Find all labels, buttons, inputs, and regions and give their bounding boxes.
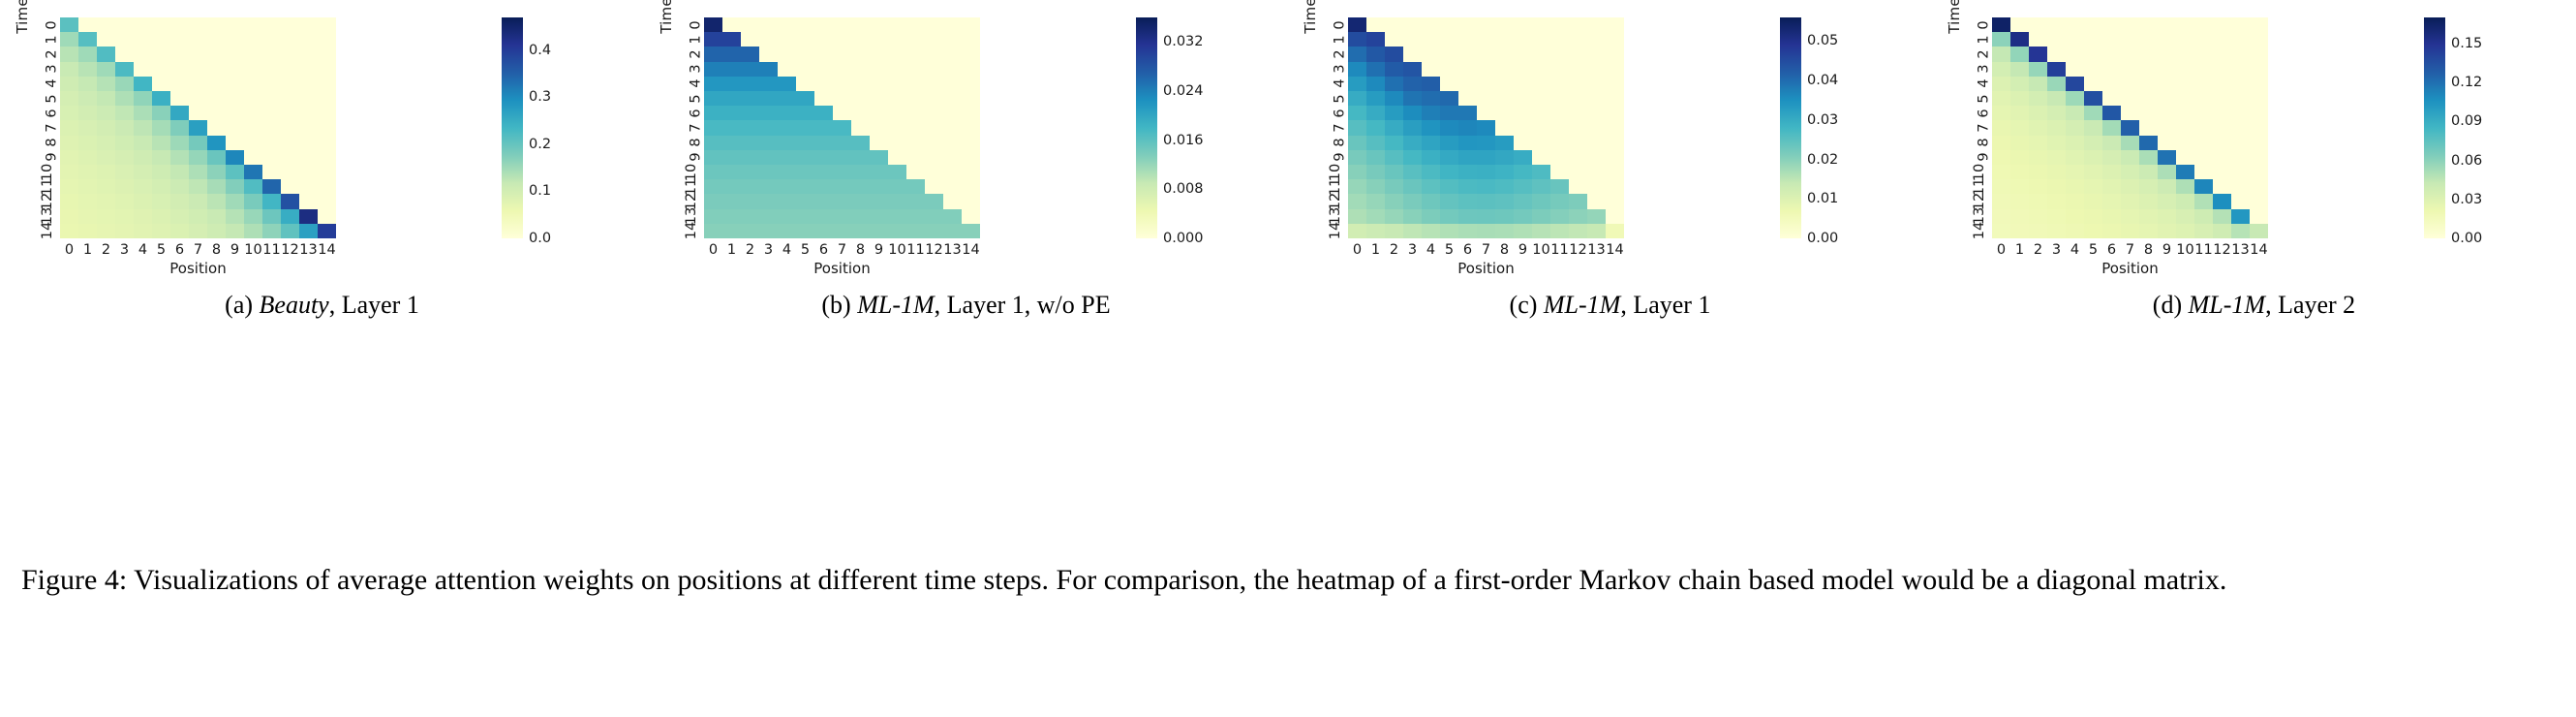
heatmap-cell (244, 209, 262, 224)
heatmap-cell (2121, 224, 2139, 238)
heatmap-cell (1992, 165, 2010, 179)
y-tick-label: 0 (44, 20, 59, 29)
heatmap-cell (851, 179, 870, 194)
heatmap-cell (262, 136, 281, 150)
heatmap-cell (2139, 179, 2158, 194)
heatmap-cell (1550, 209, 1569, 224)
heatmap-cell (1569, 47, 1587, 61)
heatmap-cell (1550, 165, 1569, 179)
heatmap-cell (1477, 77, 1495, 91)
heatmap-cell (2047, 91, 2066, 106)
heatmap-cell (115, 194, 134, 208)
heatmap-cell (741, 165, 759, 179)
heatmap-cell (1550, 194, 1569, 208)
heatmap-cell (189, 106, 207, 120)
heatmap-cell (2213, 120, 2231, 135)
heatmap-cell (1348, 224, 1366, 238)
heatmap-cell (796, 150, 814, 165)
heatmap-cell (833, 77, 851, 91)
colorbar-tick-label: 0.3 (529, 89, 551, 105)
heatmap-cell (2158, 179, 2176, 194)
heatmap-cell (1385, 224, 1403, 238)
heatmap-cell (759, 165, 778, 179)
heatmap-cell (189, 47, 207, 61)
heatmap-cell (814, 136, 833, 150)
heatmap-cell (281, 120, 299, 135)
heatmap-cell (741, 47, 759, 61)
heatmap-cell (318, 136, 336, 150)
heatmap-cell (115, 17, 134, 32)
heatmap-cell (2066, 106, 2084, 120)
colorbar-tick-label: 0.03 (2451, 192, 2482, 207)
heatmap-cell (2010, 62, 2029, 77)
x-tick-label: 9 (870, 242, 888, 262)
x-tick-label: 12 (281, 242, 299, 262)
heatmap-cell (134, 179, 152, 194)
y-tick-label: 5 (1332, 94, 1347, 103)
y-tick-label: 1 (44, 35, 59, 44)
figure-4-container: Time Step0123456789101112131401234567891… (0, 0, 2576, 717)
heatmap-cell (1458, 32, 1477, 47)
heatmap-cell (1514, 91, 1532, 106)
heatmap-cell (778, 47, 796, 61)
heatmap-cell (1458, 120, 1477, 135)
heatmap-cell (741, 179, 759, 194)
heatmap-cell (870, 47, 888, 61)
heatmap-panel-b: Time Step0123456789101112131401234567891… (644, 0, 1288, 484)
heatmap-cell (134, 91, 152, 106)
heatmap-cell (60, 224, 78, 238)
heatmap-cell (759, 77, 778, 91)
heatmap-cell (1514, 209, 1532, 224)
heatmap-cell (244, 62, 262, 77)
heatmap-cell (2158, 150, 2176, 165)
heatmap-cell (226, 209, 244, 224)
heatmap-cell (189, 179, 207, 194)
heatmap-cell (226, 120, 244, 135)
heatmap-cell (152, 136, 170, 150)
heatmap-cell (2029, 136, 2047, 150)
heatmap-cell (2066, 150, 2084, 165)
x-tick-label: 3 (1403, 242, 1422, 262)
heatmap-cell (78, 224, 97, 238)
heatmap-cell (2231, 150, 2250, 165)
x-tick-label: 5 (796, 242, 814, 262)
heatmap-cell (1514, 224, 1532, 238)
heatmap-cell (2194, 47, 2213, 61)
heatmap-cell (262, 194, 281, 208)
heatmap-cell (134, 17, 152, 32)
heatmap-cell (2250, 32, 2268, 47)
x-tick-label: 4 (2066, 242, 2084, 262)
heatmap-cell (1477, 209, 1495, 224)
heatmap-cell (1550, 150, 1569, 165)
heatmap-cell (281, 165, 299, 179)
heatmap-cell (704, 150, 722, 165)
heatmap-cell (2194, 165, 2213, 179)
heatmap-cell (888, 179, 906, 194)
heatmap-cell (1440, 77, 1458, 91)
heatmap-cell (722, 47, 741, 61)
heatmap-cell (1495, 47, 1514, 61)
heatmap-cell (2029, 120, 2047, 135)
x-tick-label: 6 (1458, 242, 1477, 262)
heatmap-cell (2066, 77, 2084, 91)
heatmap-cell (2047, 165, 2066, 179)
heatmap-cell (170, 47, 189, 61)
heatmap-cell (1569, 136, 1587, 150)
heatmap-cell (1514, 32, 1532, 47)
heatmap-cell (1606, 165, 1624, 179)
heatmap-cell (1477, 17, 1495, 32)
heatmap-cell (704, 62, 722, 77)
heatmap-cell (1403, 136, 1422, 150)
heatmap-cell (244, 224, 262, 238)
y-axis-ticks: 01234567891011121314 (1313, 17, 1346, 238)
heatmap-cell (1422, 165, 1440, 179)
heatmap-cell (170, 194, 189, 208)
heatmap-cell (1366, 209, 1385, 224)
heatmap-cell (2066, 91, 2084, 106)
heatmap-cell (1550, 179, 1569, 194)
x-axis-label: Position (60, 260, 336, 277)
heatmap-cell (925, 165, 943, 179)
heatmap-cell (870, 32, 888, 47)
x-tick-label: 5 (2084, 242, 2102, 262)
heatmap-cell (2139, 165, 2158, 179)
heatmap-cell (1587, 47, 1606, 61)
heatmap-cell (870, 91, 888, 106)
heatmap-cell (1495, 150, 1514, 165)
heatmap-cell (318, 32, 336, 47)
heatmap-cell (870, 62, 888, 77)
heatmap-cell (1366, 32, 1385, 47)
heatmap-cell (1587, 91, 1606, 106)
heatmap-cell (2139, 17, 2158, 32)
heatmap-cell (2010, 17, 2029, 32)
heatmap-cell (318, 47, 336, 61)
heatmap-cell (759, 32, 778, 47)
heatmap-cell (299, 136, 318, 150)
x-tick-label: 13 (943, 242, 962, 262)
colorbar-tick-label: 0.15 (2451, 36, 2482, 51)
heatmap-cell (1348, 91, 1366, 106)
heatmap-cell (1440, 32, 1458, 47)
heatmap-cell (1606, 120, 1624, 135)
heatmap-cell (1458, 91, 1477, 106)
heatmap-cell (2213, 165, 2231, 179)
colorbar-ticks: 0.000.010.020.030.040.05 (1807, 17, 1894, 238)
y-tick: 2 (25, 47, 58, 61)
x-tick-label: 11 (2194, 242, 2213, 262)
colorbar-tick-label: 0.1 (529, 183, 551, 199)
heatmap-cell (2158, 165, 2176, 179)
heatmap-cell (888, 194, 906, 208)
heatmap-cell (1477, 106, 1495, 120)
heatmap-cell (1366, 194, 1385, 208)
heatmap-cell (1366, 165, 1385, 179)
heatmap-cell (1532, 136, 1550, 150)
heatmap-cell (78, 62, 97, 77)
heatmap-cell (962, 106, 980, 120)
heatmap-cell (1385, 106, 1403, 120)
heatmap-cell (244, 17, 262, 32)
x-tick-label: 2 (97, 242, 115, 262)
heatmap-cell (851, 136, 870, 150)
x-tick-label: 13 (299, 242, 318, 262)
y-tick-label: 2 (688, 49, 703, 58)
heatmap-cell (2250, 62, 2268, 77)
heatmap-cell (962, 136, 980, 150)
heatmap-cell (1422, 136, 1440, 150)
heatmap-cell (2047, 47, 2066, 61)
heatmap-cell (1366, 136, 1385, 150)
heatmap-cell (2029, 17, 2047, 32)
heatmap-cell (281, 47, 299, 61)
heatmap-cell (1992, 224, 2010, 238)
heatmap-cell (2084, 77, 2102, 91)
heatmap-cell (1514, 77, 1532, 91)
heatmap-cell (189, 77, 207, 91)
heatmap-cell (134, 120, 152, 135)
heatmap-cell (318, 106, 336, 120)
heatmap-cell (262, 77, 281, 91)
heatmap-cell (925, 62, 943, 77)
heatmap-cell (1385, 136, 1403, 150)
y-tick: 2 (1313, 47, 1346, 61)
heatmap-cell (262, 47, 281, 61)
heatmap-cell (2102, 150, 2121, 165)
x-tick-label: 8 (2139, 242, 2158, 262)
heatmap-cell (152, 120, 170, 135)
heatmap-cell (778, 194, 796, 208)
y-tick-label: 14 (40, 222, 55, 239)
heatmap-cell (833, 106, 851, 120)
y-tick-label: 8 (1332, 139, 1347, 147)
heatmap-cell (2231, 209, 2250, 224)
heatmap-cell (152, 32, 170, 47)
heatmap-cell (1992, 32, 2010, 47)
heatmap-cell (2121, 32, 2139, 47)
heatmap-cell (78, 120, 97, 135)
heatmap-cell (1569, 165, 1587, 179)
heatmap-cell (796, 194, 814, 208)
heatmap-cell (281, 91, 299, 106)
heatmap-cell (60, 77, 78, 91)
heatmap-cell (1403, 91, 1422, 106)
heatmap-cell (78, 209, 97, 224)
heatmap-cell (2047, 194, 2066, 208)
heatmap-cell (1458, 224, 1477, 238)
heatmap-cell (833, 32, 851, 47)
heatmap-cell (2047, 17, 2066, 32)
heatmap-cell (2121, 150, 2139, 165)
heatmap-cell (943, 136, 962, 150)
heatmap-cell (1366, 179, 1385, 194)
heatmap-cell (207, 62, 226, 77)
heatmap-cell (1532, 194, 1550, 208)
heatmap-cell (833, 224, 851, 238)
heatmap-cell (2066, 179, 2084, 194)
heatmap-cell (2102, 32, 2121, 47)
heatmap-cell (2158, 32, 2176, 47)
heatmap-cell (318, 62, 336, 77)
heatmap-cell (796, 62, 814, 77)
heatmap-cell (2029, 150, 2047, 165)
heatmap-cell (115, 106, 134, 120)
heatmap-cell (814, 47, 833, 61)
x-tick-label: 5 (152, 242, 170, 262)
y-tick-label: 6 (1332, 109, 1347, 117)
heatmap-cell (722, 209, 741, 224)
y-tick: 1 (25, 32, 58, 47)
y-tick: 2 (1957, 47, 1990, 61)
heatmap-cell (759, 62, 778, 77)
y-tick: 6 (669, 106, 702, 120)
heatmap-cell (2047, 77, 2066, 91)
x-axis-label: Position (1348, 260, 1624, 277)
heatmap-cell (1440, 91, 1458, 106)
heatmap-cell (97, 224, 115, 238)
heatmap-cell (1587, 165, 1606, 179)
heatmap-cell (2250, 17, 2268, 32)
heatmap-cell (189, 194, 207, 208)
heatmap-cell (943, 165, 962, 179)
heatmap-cell (1587, 120, 1606, 135)
colorbar-tick-label: 0.000 (1163, 231, 1204, 246)
heatmap-cell (2250, 224, 2268, 238)
heatmap-cell (851, 32, 870, 47)
colorbar-gradient (2424, 17, 2445, 238)
heatmap-cell (189, 91, 207, 106)
heatmap-cell (318, 17, 336, 32)
heatmap-cell (870, 165, 888, 179)
heatmap-cell (2066, 62, 2084, 77)
x-tick-label: 11 (906, 242, 925, 262)
heatmap-cell (943, 120, 962, 135)
heatmap-cell (2176, 150, 2194, 165)
x-axis-label: Position (704, 260, 980, 277)
heatmap-cell (906, 136, 925, 150)
panel-caption-rest: , Layer 1 (1620, 291, 1710, 319)
heatmap-cell (1403, 150, 1422, 165)
heatmap-cell (2231, 224, 2250, 238)
heatmap-cell (962, 194, 980, 208)
heatmap-cell (796, 17, 814, 32)
heatmap-cell (60, 150, 78, 165)
heatmap-cell (244, 32, 262, 47)
heatmap-cell (60, 209, 78, 224)
heatmap-cell (281, 106, 299, 120)
heatmap-cell (1495, 224, 1514, 238)
heatmap-cell (778, 209, 796, 224)
heatmap-cell (60, 106, 78, 120)
y-tick-label: 8 (688, 139, 703, 147)
heatmap-cell (299, 150, 318, 165)
heatmap-cell (1569, 17, 1587, 32)
heatmap-cell (1422, 91, 1440, 106)
heatmap-cell (1569, 32, 1587, 47)
heatmap-cell (1992, 62, 2010, 77)
heatmap-cell (2029, 224, 2047, 238)
colorbar-tick-label: 0.12 (2451, 75, 2482, 90)
y-tick: 0 (1313, 17, 1346, 32)
heatmap-cell (2066, 194, 2084, 208)
heatmap-cell (814, 62, 833, 77)
heatmap-cell (704, 136, 722, 150)
heatmap-cell (60, 32, 78, 47)
x-tick-label: 8 (207, 242, 226, 262)
heatmap-cell (2194, 17, 2213, 32)
y-tick-label: 14 (1972, 222, 1987, 239)
heatmap-cell (1422, 209, 1440, 224)
y-tick: 0 (25, 17, 58, 32)
heatmap-cell (1495, 179, 1514, 194)
heatmap-cell (2194, 150, 2213, 165)
heatmap-cell (1477, 179, 1495, 194)
heatmap-cell (1992, 120, 2010, 135)
heatmap-cell (888, 136, 906, 150)
heatmap-cell (1422, 47, 1440, 61)
heatmap-cell (1514, 194, 1532, 208)
heatmap-cell (2047, 209, 2066, 224)
heatmap-cell (2213, 150, 2231, 165)
heatmap-cell (134, 77, 152, 91)
heatmap-cell (1569, 209, 1587, 224)
heatmap-cell (299, 179, 318, 194)
heatmap-cell (2231, 165, 2250, 179)
heatmap-cell (2194, 77, 2213, 91)
x-tick-label: 9 (226, 242, 244, 262)
heatmap-cell (833, 179, 851, 194)
heatmap-cell (2176, 136, 2194, 150)
heatmap-cell (906, 32, 925, 47)
heatmap-cell (2194, 136, 2213, 150)
heatmap-cell (704, 179, 722, 194)
colorbar-tick-label: 0.00 (2451, 231, 2482, 246)
heatmap-cell (134, 62, 152, 77)
y-tick-label: 1 (1332, 35, 1347, 44)
heatmap-cell (943, 224, 962, 238)
heatmap-cell (1385, 91, 1403, 106)
heatmap-cell (1606, 17, 1624, 32)
y-tick-label: 6 (1976, 109, 1991, 117)
heatmap-cell (1569, 179, 1587, 194)
heatmap-cell (796, 165, 814, 179)
heatmap-cell (1348, 150, 1366, 165)
heatmap-cell (1550, 91, 1569, 106)
heatmap-cell (2213, 32, 2231, 47)
heatmap-cell (925, 106, 943, 120)
heatmap-cell (2010, 32, 2029, 47)
y-tick: 4 (1957, 77, 1990, 91)
heatmap-cell (2139, 150, 2158, 165)
heatmap-cell (2047, 32, 2066, 47)
heatmap-cell (1992, 106, 2010, 120)
x-tick-label: 1 (78, 242, 97, 262)
heatmap-cell (1403, 77, 1422, 91)
heatmap-cell (2158, 91, 2176, 106)
heatmap-cell (2213, 179, 2231, 194)
heatmap-cell (1587, 106, 1606, 120)
figure-caption: Figure 4: Visualizations of average atte… (21, 560, 2557, 602)
heatmap-cell (778, 62, 796, 77)
heatmap-cell (1606, 194, 1624, 208)
heatmap-cell (1422, 17, 1440, 32)
heatmap-cell (226, 194, 244, 208)
heatmap-cell (1495, 136, 1514, 150)
heatmap-cell (1477, 150, 1495, 165)
